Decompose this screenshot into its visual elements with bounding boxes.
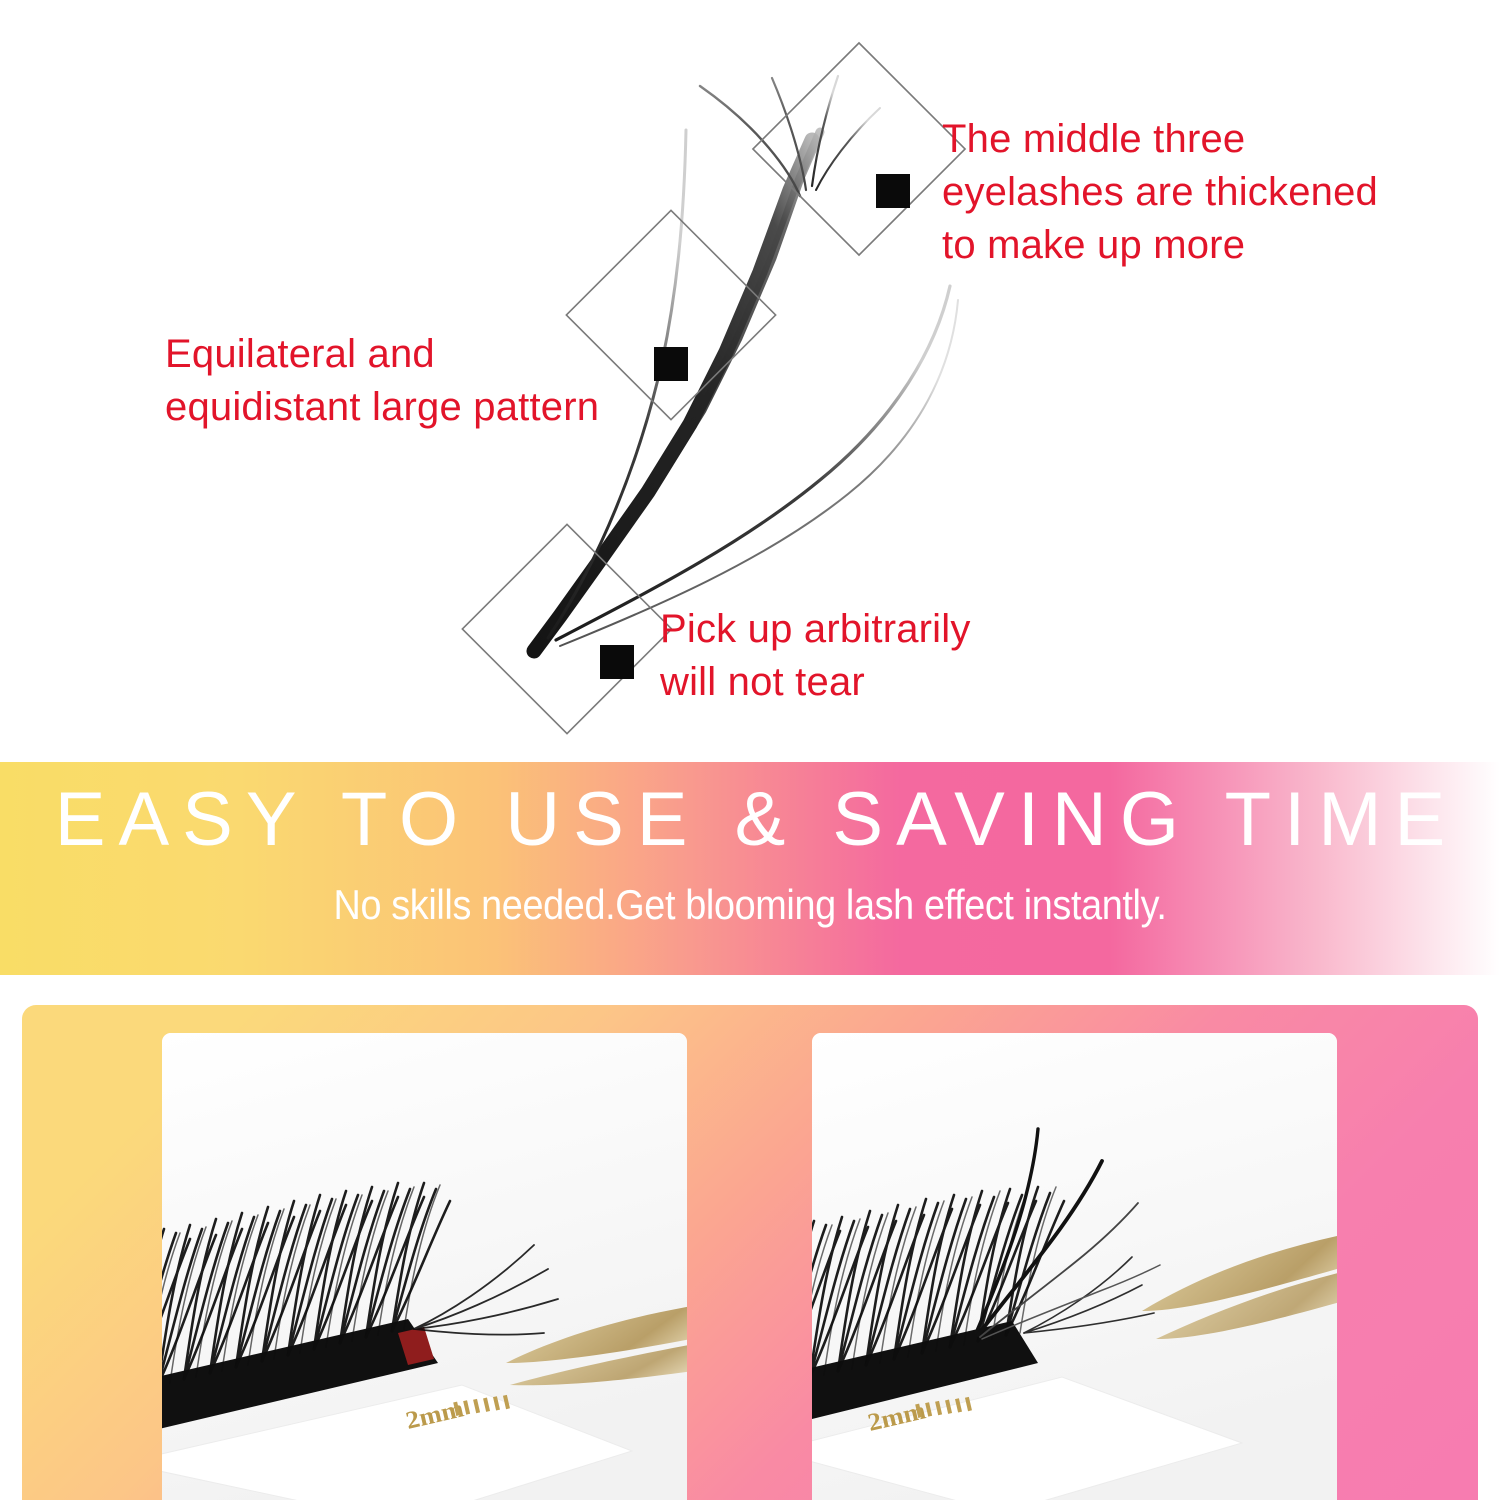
callout-square-top-right bbox=[876, 174, 910, 208]
hero-diagram-section: The middle three eyelashes are thickened… bbox=[0, 0, 1500, 755]
callout-marker-bottom bbox=[462, 524, 671, 733]
photo-card-right: 2mm bbox=[812, 1033, 1337, 1500]
callout-label-equilateral-pattern: Equilateral and equidistant large patter… bbox=[165, 328, 599, 434]
callout-square-left bbox=[654, 347, 688, 381]
photo-card-left: 2mm bbox=[162, 1033, 687, 1500]
lash-fiber-1 bbox=[700, 86, 800, 196]
callout-label-no-tear: Pick up arbitrarily will not tear bbox=[660, 603, 971, 709]
banner-headline: EASY TO USE & SAVING TIME bbox=[0, 782, 1500, 858]
product-photo-panel: 2mm bbox=[22, 1005, 1478, 1500]
lash-strand-right bbox=[556, 286, 950, 640]
callout-square-bottom bbox=[600, 645, 634, 679]
promo-banner: EASY TO USE & SAVING TIME No skills need… bbox=[0, 762, 1500, 975]
banner-subheadline: No skills needed.Get blooming lash effec… bbox=[75, 884, 1425, 926]
callout-label-thickened-lashes: The middle three eyelashes are thickened… bbox=[942, 113, 1378, 271]
lash-tray-photo-left: 2mm bbox=[162, 1033, 687, 1500]
lash-strand-right-2 bbox=[560, 300, 958, 646]
lash-tray-photo-right: 2mm bbox=[812, 1033, 1337, 1500]
